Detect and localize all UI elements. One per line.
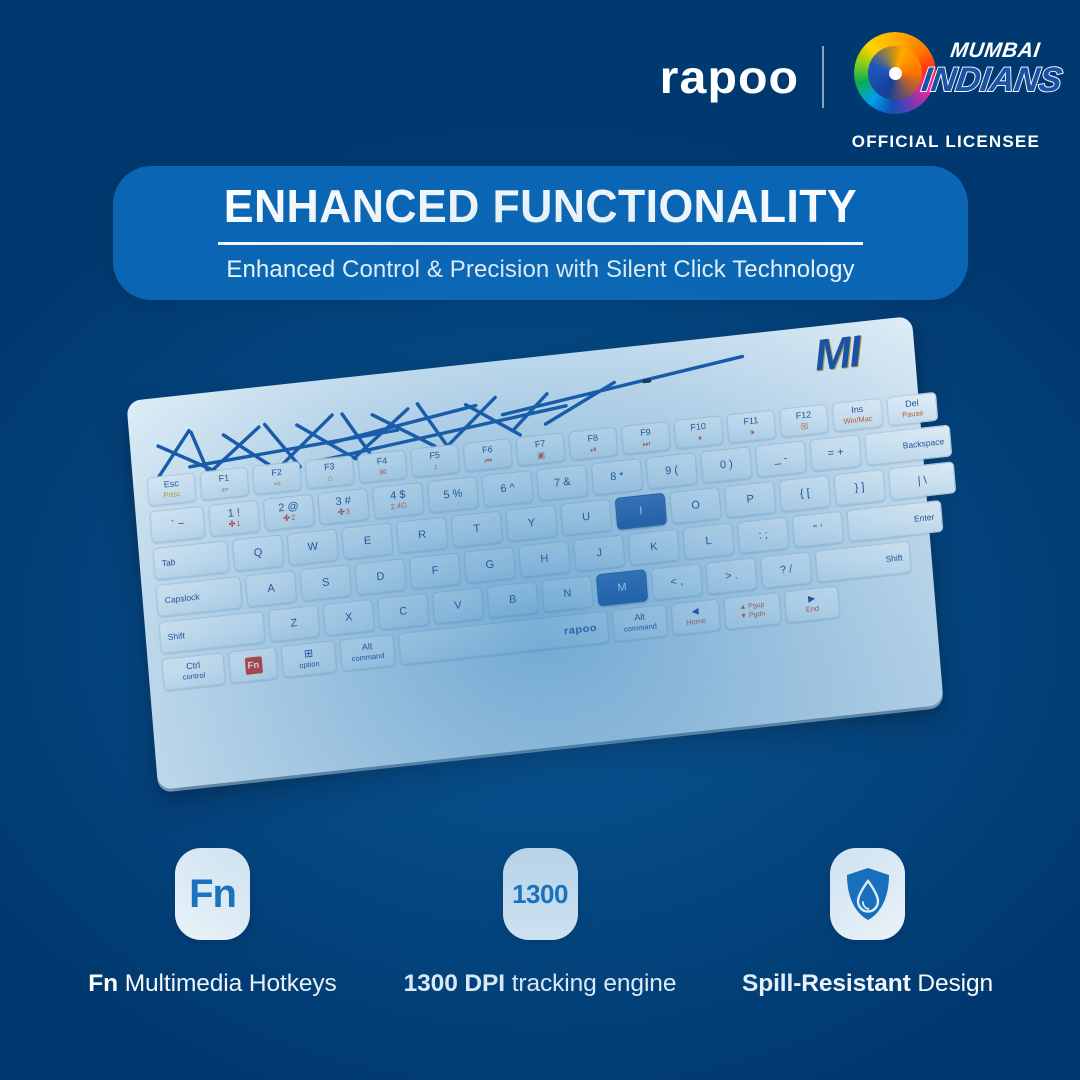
dpi-icon-text: 1300 — [512, 881, 568, 907]
key-quote[interactable]: " ' — [792, 511, 844, 548]
key-7[interactable]: 7 & — [536, 464, 588, 501]
feature-label-fn: Fn Multimedia Hotkeys — [88, 970, 336, 998]
feature-spill-resistant: Spill-Resistant Design — [715, 848, 1020, 998]
key-bracket-right[interactable]: } ] — [833, 469, 885, 506]
key-w[interactable]: W — [287, 528, 339, 565]
feature-label-dpi: 1300 DPI tracking engine — [404, 970, 677, 998]
dpi-badge-icon: 1300 — [503, 848, 578, 940]
rapoo-logo: rapoo — [660, 54, 799, 100]
key-r[interactable]: R — [396, 516, 448, 553]
key-8[interactable]: 8 * — [591, 458, 643, 495]
key-f6[interactable]: F6⏮ — [463, 438, 513, 472]
key-insert[interactable]: InsWin/Mac — [832, 398, 884, 432]
shield-icon — [845, 867, 891, 921]
key-q[interactable]: Q — [232, 534, 284, 571]
key-shift-left[interactable]: Shift — [159, 611, 266, 654]
key-f8[interactable]: F8⏯ — [568, 427, 618, 461]
brand-divider — [822, 46, 824, 108]
key-backslash[interactable]: | \ — [888, 461, 956, 500]
key-windows-option[interactable]: ⊞option — [281, 640, 337, 678]
key-esc[interactable]: EscPrtsc — [147, 472, 197, 506]
key-v[interactable]: V — [432, 587, 484, 624]
key-p[interactable]: P — [724, 481, 776, 518]
key-z[interactable]: Z — [268, 605, 320, 642]
key-i-highlighted[interactable]: I — [615, 493, 667, 530]
key-f11[interactable]: F11🕩 — [726, 409, 776, 443]
fn-key-badge: Fn — [244, 656, 262, 675]
key-0[interactable]: 0 ) — [700, 446, 752, 483]
key-f[interactable]: F — [409, 552, 461, 589]
key-3[interactable]: 3 # ✣3 — [317, 488, 369, 525]
fn-key-icon: Fn — [175, 848, 250, 940]
key-9[interactable]: 9 ( — [646, 452, 698, 489]
poster-canvas: rapoo MUMBAI INDIANS OFFICIAL LICENSEE E… — [0, 0, 1080, 1080]
key-tab[interactable]: Tab — [152, 540, 229, 580]
key-n[interactable]: N — [541, 575, 593, 612]
banner-title: ENHANCED FUNCTIONALITY — [224, 183, 857, 229]
keyboard-mi-logo: MI — [813, 328, 878, 381]
key-y[interactable]: Y — [505, 505, 557, 542]
key-5[interactable]: 5 % — [427, 476, 479, 513]
key-arrow-left-home[interactable]: ◀Home — [671, 598, 721, 635]
feature-label-spill-bold: Spill-Resistant — [742, 970, 911, 997]
key-x[interactable]: X — [323, 599, 375, 636]
key-f1[interactable]: F1⇦ — [199, 467, 249, 501]
feature-label-spill: Spill-Resistant Design — [742, 970, 993, 998]
banner-subtitle: Enhanced Control & Precision with Silent… — [226, 256, 854, 284]
key-l[interactable]: L — [682, 523, 734, 560]
key-o[interactable]: O — [669, 487, 721, 524]
key-m-highlighted[interactable]: M — [596, 569, 648, 606]
brand-bar: rapoo MUMBAI INDIANS — [663, 34, 1040, 120]
shield-droplet-icon — [830, 848, 905, 940]
key-alt-command-right[interactable]: Altcommand — [612, 604, 668, 642]
key-c[interactable]: C — [377, 593, 429, 630]
key-minus[interactable]: _ - — [755, 440, 807, 477]
key-comma[interactable]: < , — [651, 563, 703, 600]
key-alt-command-left[interactable]: Altcommand — [340, 634, 396, 672]
key-shift-right[interactable]: Shift — [815, 541, 912, 583]
key-arrow-right-end[interactable]: ▶End — [784, 586, 840, 624]
key-f10[interactable]: F10🕨 — [674, 415, 724, 449]
key-slash[interactable]: ? / — [760, 551, 812, 588]
key-a[interactable]: A — [245, 570, 297, 607]
key-f5[interactable]: F5♪ — [410, 444, 460, 478]
feature-row: Fn Fn Multimedia Hotkeys 1300 1300 DPI t… — [60, 848, 1020, 998]
official-licensee-text: OFFICIAL LICENSEE — [852, 132, 1040, 152]
key-capslock[interactable]: Capslock — [155, 576, 242, 617]
feature-label-dpi-rest: tracking engine — [505, 970, 676, 997]
key-g[interactable]: G — [464, 546, 516, 583]
key-f12[interactable]: F12☒ — [779, 404, 829, 438]
mumbai-indians-logo: MUMBAI INDIANS — [850, 34, 1040, 120]
key-2[interactable]: 2 @ ✣2 — [263, 494, 315, 531]
feature-fn-hotkeys: Fn Fn Multimedia Hotkeys — [60, 848, 365, 998]
keyboard-product-image: MI EscPrtsc F1⇦ F2⇨ F3⌂ F4✉ — [140, 358, 940, 808]
key-period[interactable]: > . — [705, 557, 757, 594]
feature-label-spill-rest: Design — [911, 970, 993, 997]
key-e[interactable]: E — [341, 522, 393, 559]
key-f2[interactable]: F2⇨ — [252, 461, 302, 495]
mi-mumbai-text: MUMBAI — [921, 40, 1042, 61]
key-equal[interactable]: = + — [810, 434, 862, 471]
key-backspace[interactable]: Backspace — [864, 424, 952, 465]
key-f3[interactable]: F3⌂ — [305, 455, 355, 489]
key-fn[interactable]: Fn — [228, 647, 278, 684]
key-bracket-left[interactable]: { [ — [779, 475, 831, 512]
key-f4[interactable]: F4✉ — [357, 449, 407, 483]
feature-dpi: 1300 1300 DPI tracking engine — [388, 848, 693, 998]
spacebar-rapoo-logo: rapoo — [563, 622, 597, 637]
feature-label-dpi-bold: 1300 DPI — [404, 970, 505, 997]
key-j[interactable]: J — [573, 534, 625, 571]
key-u[interactable]: U — [560, 499, 612, 536]
key-6[interactable]: 6 ^ — [481, 470, 533, 507]
key-semicolon[interactable]: : ; — [737, 517, 789, 554]
keyboard-mi-text: MI — [813, 328, 878, 379]
banner-divider — [218, 242, 863, 245]
key-delete[interactable]: DelPause — [886, 392, 938, 426]
key-f9[interactable]: F9⏭ — [621, 421, 671, 455]
feature-label-fn-rest: Multimedia Hotkeys — [118, 970, 337, 997]
key-4[interactable]: 4 $2.4G — [372, 482, 424, 519]
key-t[interactable]: T — [451, 510, 503, 547]
key-ctrl[interactable]: Ctrlcontrol — [162, 652, 226, 691]
fn-icon-text: Fn — [189, 874, 236, 914]
key-k[interactable]: K — [628, 528, 680, 565]
feature-label-fn-bold: Fn — [88, 970, 118, 997]
key-h[interactable]: H — [518, 540, 570, 577]
mi-wordmark: MUMBAI INDIANS — [922, 40, 1040, 99]
mi-indians-text: INDIANS — [919, 63, 1042, 99]
key-b[interactable]: B — [487, 581, 539, 618]
key-f7[interactable]: F7▣ — [515, 432, 565, 466]
headline-banner: ENHANCED FUNCTIONALITY Enhanced Control … — [113, 166, 968, 300]
key-s[interactable]: S — [300, 564, 352, 601]
key-backtick[interactable]: ` ~ — [149, 506, 205, 544]
key-pgup-pgdn[interactable]: ▲ Pgup▼ Pgdn — [723, 592, 781, 630]
key-d[interactable]: D — [354, 558, 406, 595]
key-1[interactable]: 1 ! ✣1 — [208, 500, 260, 537]
keyboard: MI EscPrtsc F1⇦ F2⇨ F3⌂ F4✉ — [126, 316, 943, 790]
